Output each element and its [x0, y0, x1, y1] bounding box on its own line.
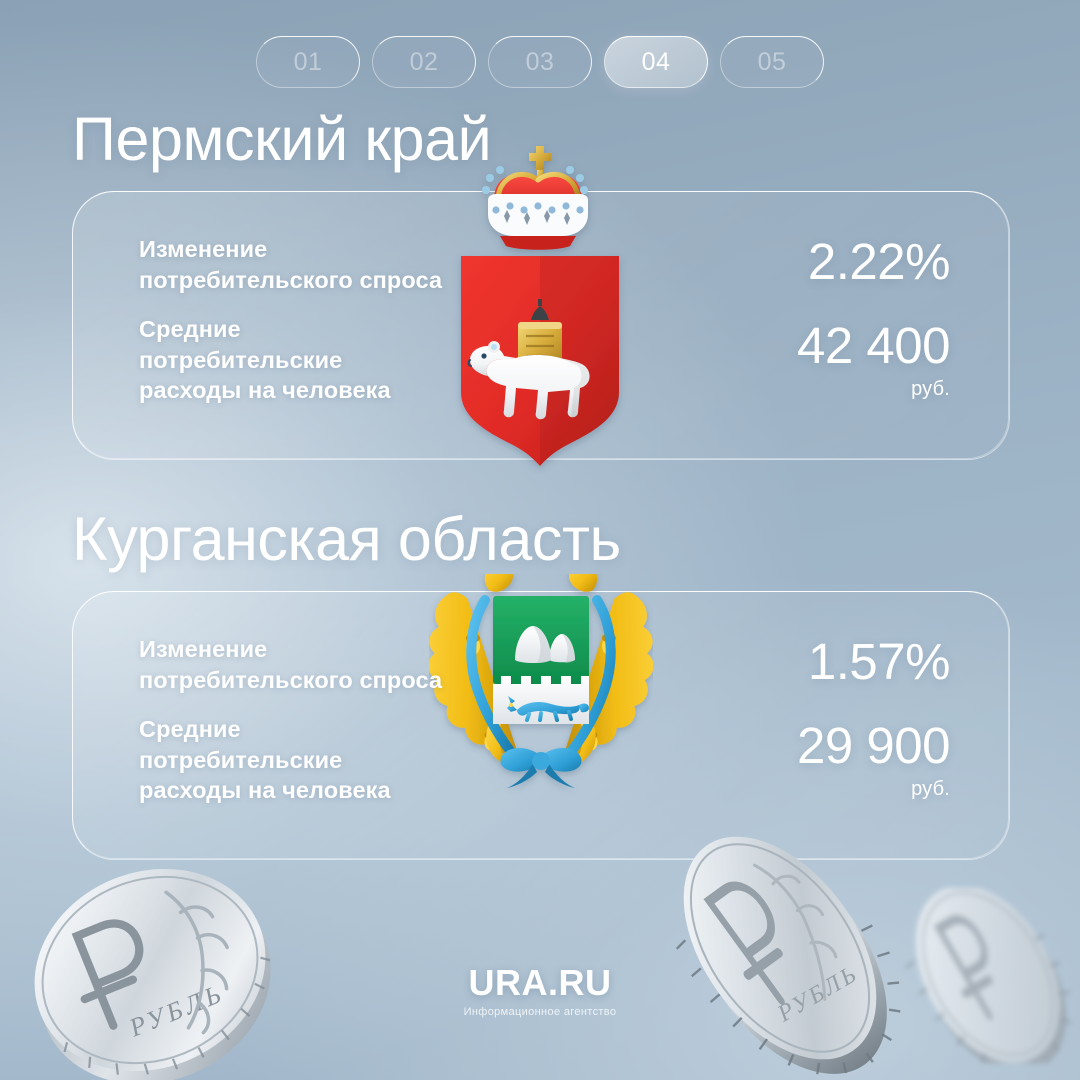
- stat-value-group: 1.57%: [808, 636, 950, 687]
- stats-card-perm: Изменениепотребительского спроса 2.22% С…: [72, 191, 1009, 459]
- stat-unit: руб.: [797, 379, 950, 399]
- stats-rows-perm: Изменениепотребительского спроса 2.22% С…: [73, 192, 1008, 458]
- stats-card-kurgan: Изменениепотребительского спроса 1.57% С…: [72, 591, 1009, 859]
- stats-rows-kurgan: Изменениепотребительского спроса 1.57% С…: [73, 592, 1008, 858]
- stat-label: Средниепотребительскиерасходы на человек…: [139, 314, 391, 404]
- stat-value: 42 400: [797, 320, 950, 371]
- ura-ru-tagline: Информационное агентство: [0, 1006, 1080, 1018]
- stat-value-group: 29 900 руб.: [797, 720, 950, 799]
- infographic-stage: 0102030405 Пермский край: [0, 0, 1080, 1080]
- pagination-pill-label: 01: [294, 48, 323, 77]
- pagination-pill-04[interactable]: 04: [604, 36, 708, 88]
- pagination-pill-label: 02: [410, 48, 439, 77]
- pagination: 0102030405: [0, 36, 1080, 88]
- pagination-pill-02[interactable]: 02: [372, 36, 476, 88]
- footer-logo: URA.RU Информационное агентство: [0, 965, 1080, 1018]
- pagination-pill-label: 03: [526, 48, 555, 77]
- pagination-pill-label: 04: [642, 48, 671, 77]
- region-title-kurgan: Курганская область: [72, 508, 1080, 571]
- stat-value-group: 2.22%: [808, 236, 950, 287]
- stat-value: 29 900: [797, 720, 950, 771]
- stat-value-group: 42 400 руб.: [797, 320, 950, 399]
- ura-ru-wordmark: URA.RU: [0, 965, 1080, 1001]
- region-block-kurgan: Курганская область: [0, 508, 1080, 859]
- stat-unit: руб.: [797, 779, 950, 799]
- stat-value: 2.22%: [808, 236, 950, 287]
- stat-label: Средниепотребительскиерасходы на человек…: [139, 714, 391, 804]
- pagination-pill-05[interactable]: 05: [720, 36, 824, 88]
- pagination-pill-03[interactable]: 03: [488, 36, 592, 88]
- stat-value: 1.57%: [808, 636, 950, 687]
- region-title-perm: Пермский край: [72, 108, 1080, 171]
- stat-label: Изменениепотребительского спроса: [139, 634, 442, 694]
- stat-label: Изменениепотребительского спроса: [139, 234, 442, 294]
- region-block-perm: Пермский край: [0, 108, 1080, 459]
- pagination-pill-01[interactable]: 01: [256, 36, 360, 88]
- pagination-pill-label: 05: [758, 48, 787, 77]
